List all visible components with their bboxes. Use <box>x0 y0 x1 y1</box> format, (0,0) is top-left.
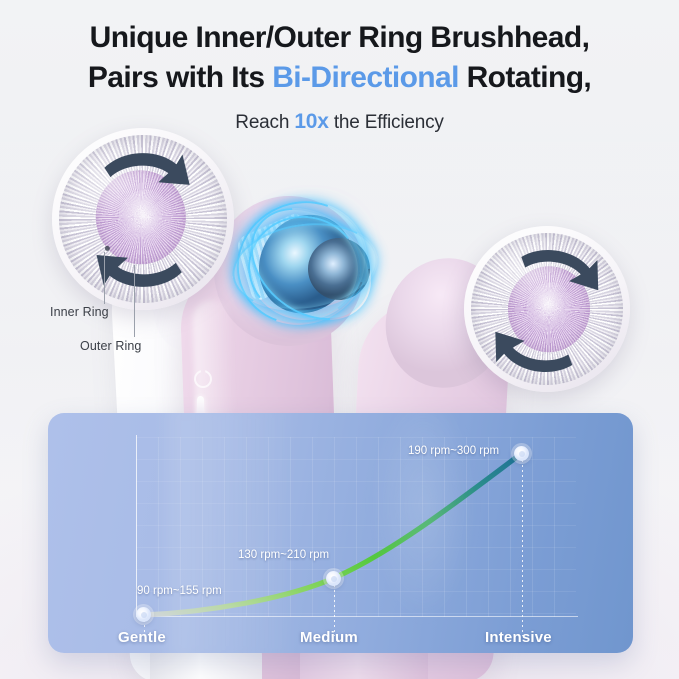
headline-line-2-suffix: Rotating, <box>459 61 591 94</box>
data-label-medium: 130 rpm~210 rpm <box>238 549 329 561</box>
rotation-arrow-icon <box>43 119 243 319</box>
x-axis-label-intensive: Intensive <box>485 629 552 646</box>
x-axis-label-medium: Medium <box>300 629 358 646</box>
data-label-intensive: 190 rpm~300 rpm <box>408 445 499 457</box>
outer-ring-leader-line <box>134 265 135 337</box>
page-subtitle: Reach 10x the Efficiency <box>0 110 679 134</box>
page-title: Unique Inner/Outer Ring Brushhead, Pairs… <box>0 18 679 98</box>
x-axis-label-gentle: Gentle <box>118 629 166 646</box>
data-point-medium[interactable] <box>326 571 341 586</box>
data-label-gentle: 90 rpm~155 rpm <box>137 585 222 597</box>
data-point-gentle[interactable] <box>136 607 151 622</box>
data-point-intensive[interactable] <box>514 446 529 461</box>
rotation-arrow-icon <box>456 218 638 400</box>
speed-chart-panel: 90 rpm~155 rpm 130 rpm~210 rpm 190 rpm~3… <box>48 413 633 653</box>
headline-line-2-prefix: Pairs with Its <box>88 61 272 94</box>
subtitle-suffix: the Efficiency <box>329 112 444 133</box>
inner-ring-leader-line <box>104 252 105 304</box>
headline-line-2: Pairs with Its Bi-Directional Rotating, <box>0 58 679 98</box>
outer-ring-label: Outer Ring <box>80 339 141 353</box>
headline-accent-bidirectional: Bi-Directional <box>272 61 459 94</box>
subtitle-accent-10x: 10x <box>294 110 328 133</box>
subtitle-prefix: Reach <box>235 112 294 133</box>
intensive-dropline <box>522 460 523 636</box>
headline-line-1: Unique Inner/Outer Ring Brushhead, <box>90 21 590 54</box>
right-brushhead <box>456 218 638 400</box>
left-brushhead <box>43 119 243 319</box>
infographic-stage: Inner Ring Outer Ring Unique Inner/Outer… <box>0 0 679 679</box>
inner-ring-label: Inner Ring <box>50 305 109 319</box>
motor-assembly <box>232 190 392 350</box>
